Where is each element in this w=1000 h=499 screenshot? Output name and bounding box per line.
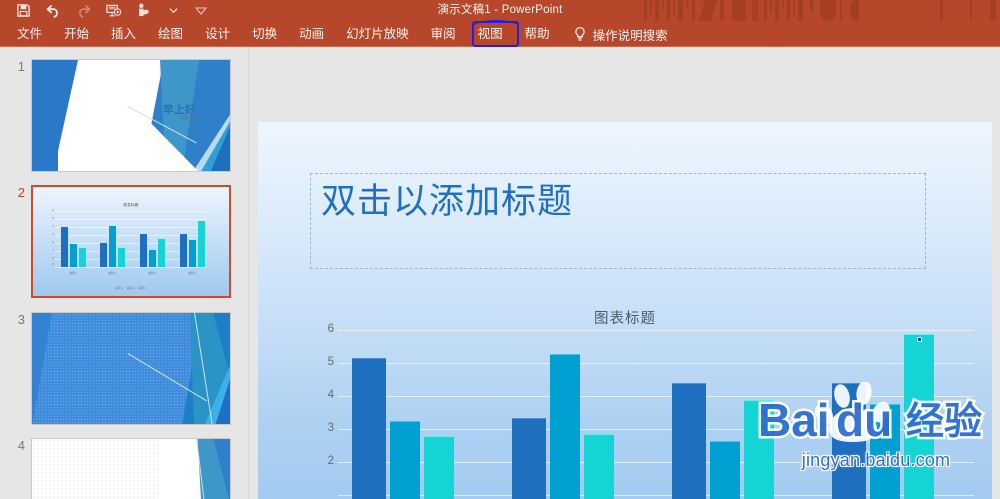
thumb-cat-1: 类别 1 bbox=[57, 271, 89, 275]
title-bar: 演示文稿1 - PowerPoint bbox=[0, 0, 1000, 21]
y-tick-4: 4 bbox=[316, 389, 334, 401]
ribbon-tabs[interactable]: 文件 开始 插入 绘图 设计 切换 动画 幻灯片放映 审阅 视图 帮助 操作说明… bbox=[6, 21, 668, 47]
slide-thumbnail-3[interactable] bbox=[31, 312, 231, 425]
tab-insert[interactable]: 插入 bbox=[100, 21, 147, 47]
current-slide[interactable]: 双击以添加标题 图表标题 6 5 4 3 2 bbox=[258, 122, 992, 499]
ribbon-tab-bar: 文件 开始 插入 绘图 设计 切换 动画 幻灯片放映 审阅 视图 帮助 操作说明… bbox=[0, 21, 1000, 47]
slide-2-legend: 系列 1 系列 2 系列 3 bbox=[33, 286, 229, 290]
slide-thumbnail-pane[interactable]: 1 早上好 微软中国 2 bbox=[0, 47, 248, 499]
thumbnail-number-3: 3 bbox=[9, 312, 25, 327]
y-tick-6: 6 bbox=[316, 323, 334, 335]
y-tick-5: 5 bbox=[316, 356, 334, 368]
slide-2-chart-title: 图表标题 bbox=[33, 203, 229, 208]
bar-s1-c3[interactable] bbox=[672, 383, 706, 499]
slide-1-artwork: 早上好 微软中国 bbox=[32, 60, 230, 171]
title-placeholder-text: 双击以添加标题 bbox=[321, 177, 573, 226]
bar-s3-c3[interactable] bbox=[744, 400, 774, 499]
tab-slide-show[interactable]: 幻灯片放映 bbox=[335, 21, 420, 47]
lightbulb-icon bbox=[573, 26, 587, 42]
tab-animations[interactable]: 动画 bbox=[288, 21, 335, 47]
bar-s1-c1[interactable] bbox=[352, 358, 386, 499]
tab-help[interactable]: 帮助 bbox=[514, 21, 561, 47]
bar-s1-c4[interactable] bbox=[832, 383, 866, 499]
tell-me-search[interactable]: 操作说明搜索 bbox=[561, 25, 668, 44]
window-title: 演示文稿1 - PowerPoint bbox=[0, 0, 1000, 21]
slide-1-title: 早上好 bbox=[163, 102, 196, 117]
chart-title: 图表标题 bbox=[258, 307, 992, 328]
slide-thumbnail-1[interactable]: 早上好 微软中国 bbox=[31, 59, 231, 172]
thumb-cat-2: 类别 2 bbox=[96, 271, 128, 275]
bar-s2-c2[interactable] bbox=[550, 354, 580, 499]
bar-s3-c1[interactable] bbox=[424, 436, 454, 499]
slide-editing-stage[interactable]: 双击以添加标题 图表标题 6 5 4 3 2 bbox=[250, 47, 1000, 499]
thumbnail-number-2: 2 bbox=[9, 185, 25, 200]
y-tick-3: 3 bbox=[316, 422, 334, 434]
slide-4-artwork bbox=[32, 439, 230, 499]
tab-transitions[interactable]: 切换 bbox=[241, 21, 288, 47]
bar-s2-c1[interactable] bbox=[390, 421, 420, 499]
bar-s1-c2[interactable] bbox=[512, 418, 546, 499]
tell-me-label: 操作说明搜索 bbox=[593, 25, 668, 44]
bar-s3-c2[interactable] bbox=[584, 434, 614, 499]
tab-home[interactable]: 开始 bbox=[53, 21, 100, 47]
tab-review[interactable]: 审阅 bbox=[420, 21, 467, 47]
tab-file[interactable]: 文件 bbox=[6, 21, 53, 47]
tab-design[interactable]: 设计 bbox=[194, 21, 241, 47]
slide-3-artwork bbox=[32, 313, 230, 424]
slide-thumbnail-4[interactable] bbox=[31, 438, 231, 499]
slide-2-plot: 65 43 21 00 bbox=[55, 211, 207, 267]
bar-s2-c4[interactable] bbox=[870, 404, 900, 499]
thumbnail-number-4: 4 bbox=[9, 438, 25, 453]
bar-s2-c3[interactable] bbox=[710, 441, 740, 499]
thumb-cat-4: 类别 4 bbox=[176, 271, 208, 275]
tab-draw[interactable]: 绘图 bbox=[147, 21, 194, 47]
powerpoint-window: 演示文稿1 - PowerPoint 文件 开始 插入 绘图 设计 切换 动画 … bbox=[0, 0, 1000, 499]
slide-thumbnail-2[interactable]: 图表标题 65 43 21 00 bbox=[31, 185, 231, 298]
chart-selection-handle[interactable] bbox=[917, 337, 922, 342]
y-tick-2: 2 bbox=[316, 455, 334, 467]
thumb-cat-3: 类别 3 bbox=[136, 271, 168, 275]
tab-view[interactable]: 视图 bbox=[467, 21, 514, 47]
slide-2-artwork: 图表标题 65 43 21 00 bbox=[33, 187, 229, 296]
bar-s3-c4[interactable] bbox=[904, 334, 934, 499]
chart-plot-area[interactable]: 6 5 4 3 2 bbox=[316, 330, 974, 499]
slide-1-subtitle: 微软中国 bbox=[181, 116, 196, 121]
thumbnail-number-1: 1 bbox=[9, 59, 25, 74]
title-placeholder[interactable]: 双击以添加标题 bbox=[310, 173, 926, 269]
